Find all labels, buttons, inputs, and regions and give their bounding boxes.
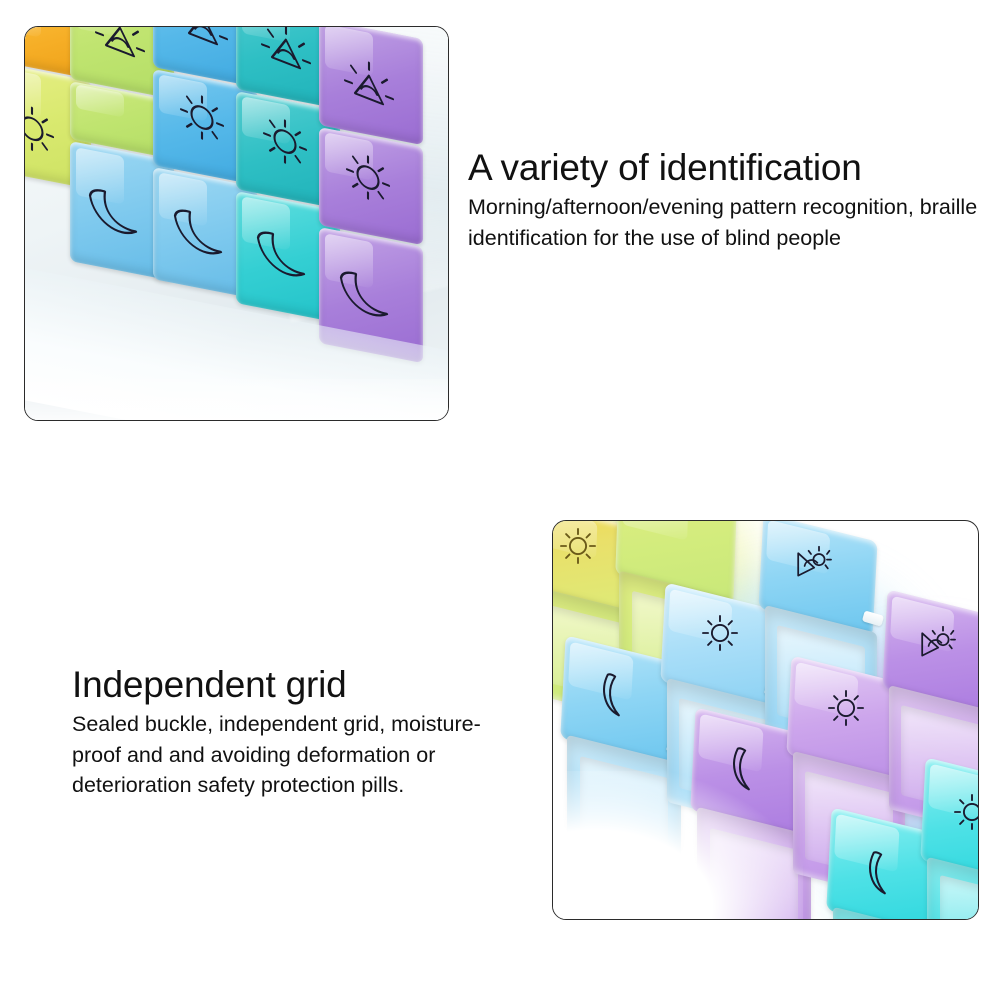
compartment-purple-sun <box>319 127 423 245</box>
photo-white-fade <box>553 771 803 919</box>
feature-heading-variety: A variety of identification <box>468 148 988 188</box>
tray-bottom-shadow <box>25 379 448 420</box>
opened-pill-organiser-photo <box>553 521 978 919</box>
feature-heading-independent-grid: Independent grid <box>72 665 502 705</box>
feature-body-independent-grid: Sealed buckle, independent grid, moistur… <box>72 709 502 801</box>
compartment-purple-sunrise <box>319 27 423 145</box>
feature-image-independent-grid <box>552 520 979 920</box>
closed-pill-organiser-photo <box>25 27 448 420</box>
feature-text-variety-of-identification: A variety of identification Morning/afte… <box>468 148 988 253</box>
feature-body-variety: Morning/afternoon/evening pattern recogn… <box>468 192 988 253</box>
feature-image-variety-of-identification <box>24 26 449 421</box>
feature-text-independent-grid: Independent grid Sealed buckle, independ… <box>72 665 502 801</box>
well-cavity <box>940 875 978 919</box>
